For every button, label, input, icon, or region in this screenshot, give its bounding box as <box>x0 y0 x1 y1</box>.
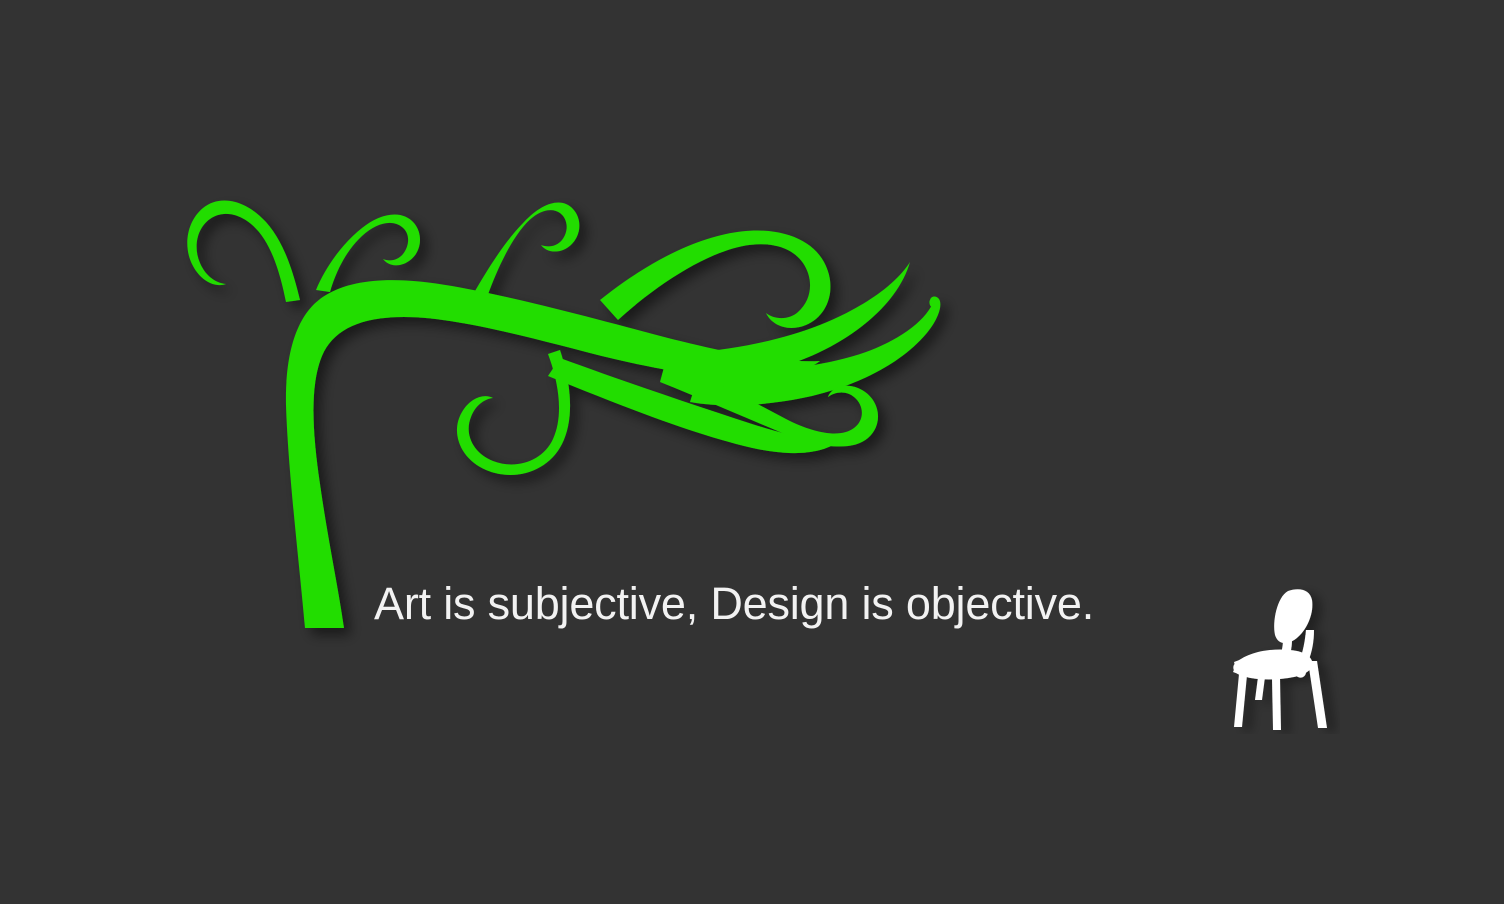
tree-branch-right-main <box>682 262 910 386</box>
tree-curl-top-mid-left <box>316 214 420 292</box>
chair-leg-back-left <box>1255 677 1265 700</box>
chair-leg-front-left <box>1234 674 1247 727</box>
tree-branch-lower-right <box>548 358 838 453</box>
tree-curl-lower-left <box>457 350 570 475</box>
chair-leg-back-right <box>1308 661 1327 728</box>
tree-curl-upper-left <box>187 200 300 302</box>
tree-curl-upper-right <box>600 230 830 327</box>
tree-illustration <box>0 0 1504 904</box>
tree-tendril-far-right <box>690 296 940 405</box>
chair-leg-mid <box>1272 678 1281 730</box>
tree-trunk <box>214 280 820 628</box>
tree-branch-group <box>187 200 940 628</box>
poster-canvas: Art is subjective, Design is objective. <box>0 0 1504 904</box>
quote-text: Art is subjective, Design is objective. <box>374 578 1094 630</box>
tree-curl-top-mid-right <box>470 203 579 306</box>
tree-curl-lower-right <box>660 360 878 447</box>
chair-icon <box>1228 582 1340 734</box>
